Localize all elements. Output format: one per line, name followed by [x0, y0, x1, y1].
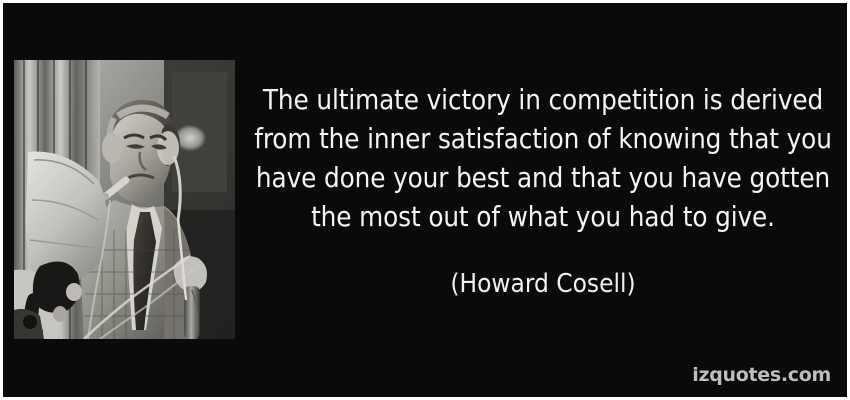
quote-card: The ultimate victory in competition is d… [0, 0, 850, 400]
quote-text: The ultimate victory in competition is d… [241, 81, 845, 237]
site-watermark: izquotes.com [692, 365, 831, 385]
portrait-illustration [14, 60, 235, 339]
quote-author: (Howard Cosell) [241, 268, 845, 300]
quote-body: The ultimate victory in competition is d… [241, 81, 845, 237]
portrait-photo [14, 60, 235, 339]
